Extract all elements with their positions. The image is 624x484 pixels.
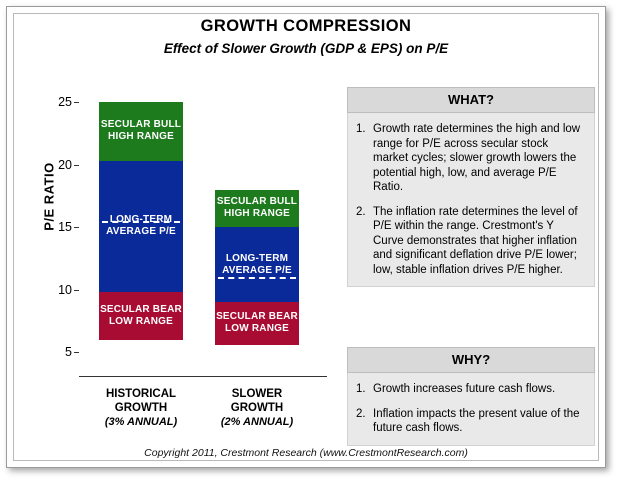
- bar-segment-label-line2: AVERAGE P/E: [222, 265, 292, 277]
- y-tick-label: 25: [42, 95, 72, 109]
- bar-segment: SECULAR BULLHIGH RANGE: [99, 102, 183, 161]
- panel-list-item-number: 1.: [356, 122, 373, 195]
- y-axis-label: P/E RATIO: [42, 127, 57, 267]
- y-tick-mark: [74, 352, 79, 353]
- bar-chart: P/E RATIO 510152025SECULAR BULLHIGH RANG…: [17, 69, 337, 439]
- panel-list-item: 1.Growth rate determines the high and lo…: [356, 122, 584, 195]
- copyright-footer: Copyright 2011, Crestmont Research (www.…: [7, 447, 605, 459]
- y-tick-mark: [74, 290, 79, 291]
- bar-segment-label-line1: SECULAR BULL: [101, 119, 181, 131]
- bar-historical-growth: SECULAR BULLHIGH RANGELONG-TERMAVERAGE P…: [99, 102, 183, 340]
- panel-what-body: 1.Growth rate determines the high and lo…: [347, 113, 595, 287]
- bar-segment-label-line1: SECULAR BEAR: [100, 304, 182, 316]
- bar-segment: SECULAR BEARLOW RANGE: [215, 302, 299, 345]
- average-pe-dashed-line: [218, 277, 295, 279]
- y-tick-mark: [74, 165, 79, 166]
- panel-list-item-text: Inflation impacts the present value of t…: [373, 407, 584, 436]
- panel-why-heading: WHY?: [347, 347, 595, 373]
- panel-what: WHAT? 1.Growth rate determines the high …: [347, 87, 595, 287]
- bar-slower-growth: SECULAR BULLHIGH RANGELONG-TERMAVERAGE P…: [215, 190, 299, 345]
- panel-what-heading: WHAT?: [347, 87, 595, 113]
- x-axis-line: [79, 376, 327, 377]
- bar-segment-label-line2: HIGH RANGE: [108, 131, 174, 143]
- y-tick-label: 10: [42, 283, 72, 297]
- panel-list-item-text: Growth increases future cash flows.: [373, 382, 584, 397]
- y-tick-mark: [74, 227, 79, 228]
- bar-segment-label-line2: LOW RANGE: [109, 316, 173, 328]
- panel-list-item-text: The inflation rate determines the level …: [373, 205, 584, 278]
- panel-list-item-number: 2.: [356, 407, 373, 436]
- bar-segment-label-line1: LONG-TERM: [226, 253, 288, 265]
- bar-segment: LONG-TERMAVERAGE P/E: [99, 161, 183, 292]
- panel-list-item-number: 2.: [356, 205, 373, 278]
- page-title: GROWTH COMPRESSION: [7, 17, 605, 36]
- plot-area: 510152025SECULAR BULLHIGH RANGELONG-TERM…: [79, 77, 327, 377]
- panel-why-body: 1.Growth increases future cash flows.2.I…: [347, 373, 595, 446]
- y-tick-label: 15: [42, 220, 72, 234]
- panel-list-item: 1.Growth increases future cash flows.: [356, 382, 584, 397]
- bar-segment-label-line2: AVERAGE P/E: [106, 226, 176, 238]
- panel-list-item-text: Growth rate determines the high and low …: [373, 122, 584, 195]
- panel-list-item: 2.The inflation rate determines the leve…: [356, 205, 584, 278]
- y-tick-label: 20: [42, 158, 72, 172]
- y-tick-label: 5: [42, 345, 72, 359]
- panel-list-item-number: 1.: [356, 382, 373, 397]
- y-tick-mark: [74, 102, 79, 103]
- category-label-line1: SLOWER: [187, 387, 327, 401]
- category-annotation: (2% ANNUAL): [187, 415, 327, 429]
- page-subtitle: Effect of Slower Growth (GDP & EPS) on P…: [7, 41, 605, 56]
- bar-segment-label-line1: SECULAR BULL: [217, 196, 297, 208]
- x-axis-category-label: SLOWERGROWTH(2% ANNUAL): [187, 387, 327, 429]
- bar-segment-label-line1: SECULAR BEAR: [216, 311, 298, 323]
- category-label-line2: GROWTH: [187, 401, 327, 415]
- panel-list-item: 2.Inflation impacts the present value of…: [356, 407, 584, 436]
- bar-segment-label-line2: LOW RANGE: [225, 323, 289, 335]
- bar-segment: SECULAR BEARLOW RANGE: [99, 292, 183, 340]
- poster-frame: GROWTH COMPRESSION Effect of Slower Grow…: [6, 6, 606, 468]
- panel-why: WHY? 1.Growth increases future cash flow…: [347, 347, 595, 446]
- bar-segment: LONG-TERMAVERAGE P/E: [215, 227, 299, 302]
- bar-segment-label-line2: HIGH RANGE: [224, 208, 290, 220]
- bar-segment: SECULAR BULLHIGH RANGE: [215, 190, 299, 228]
- average-pe-dashed-line: [102, 221, 179, 223]
